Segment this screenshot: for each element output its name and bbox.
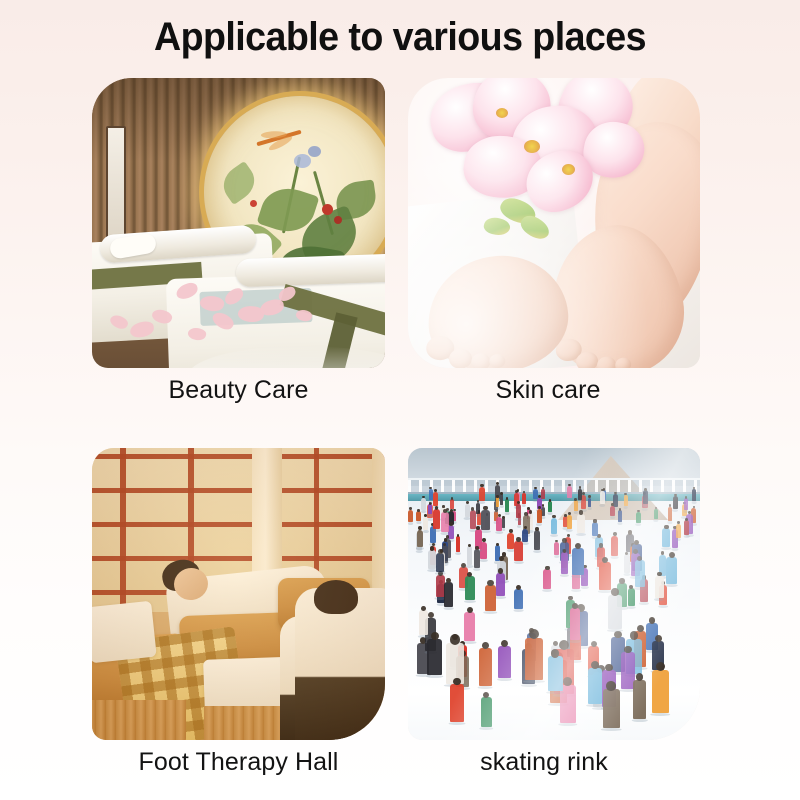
skater-head <box>438 549 443 554</box>
skater-head <box>606 681 615 690</box>
orchid-center <box>524 140 540 153</box>
skater-head <box>579 486 582 489</box>
orchid-center <box>562 164 575 175</box>
skater <box>666 557 677 584</box>
skater-head <box>444 538 447 541</box>
skater-head <box>480 484 484 488</box>
wall-post <box>120 448 126 612</box>
skater-head <box>628 530 632 534</box>
skater <box>522 529 527 542</box>
skater <box>603 689 620 728</box>
skater <box>577 514 585 533</box>
skater <box>474 549 480 568</box>
skater <box>408 510 413 522</box>
painting-blossom <box>294 154 311 168</box>
skater-head <box>529 510 532 513</box>
skater-head <box>500 492 503 495</box>
skater <box>600 491 605 504</box>
skater <box>554 542 559 556</box>
skater <box>668 507 672 522</box>
skater-head <box>482 538 486 542</box>
white-towel <box>92 601 157 664</box>
painting-leaf <box>216 161 261 205</box>
dragonfly-icon <box>256 130 301 147</box>
skater <box>534 530 540 550</box>
skater-head <box>575 543 581 549</box>
skater-head <box>567 534 570 537</box>
skater-head <box>559 640 570 651</box>
skater <box>599 562 611 589</box>
skater-head <box>471 507 474 510</box>
skater <box>543 569 551 589</box>
skater-head <box>468 544 471 547</box>
therapist-hair <box>314 580 358 614</box>
place-caption-skin-care: Skin care <box>402 376 694 405</box>
skater <box>450 499 454 509</box>
skater <box>624 554 630 573</box>
skater-head <box>593 519 596 522</box>
chair-skirt <box>92 700 186 740</box>
wall-rail <box>92 454 385 459</box>
skater <box>654 509 659 519</box>
skater <box>618 510 622 522</box>
painting-stem <box>313 171 334 235</box>
skater-head <box>611 503 614 506</box>
skater <box>436 553 445 572</box>
skater-head <box>601 489 604 492</box>
skater <box>635 560 645 587</box>
skater-head <box>693 506 696 509</box>
skater-head <box>466 501 469 504</box>
skater-head <box>496 543 499 546</box>
skater-head <box>483 692 489 698</box>
skater-head <box>449 522 452 525</box>
skater <box>673 496 678 509</box>
skater <box>684 520 689 535</box>
skater <box>467 546 473 564</box>
place-card-beauty-care[interactable]: Beauty Care <box>92 78 385 368</box>
skater-head <box>542 487 545 490</box>
skater-head <box>693 487 696 490</box>
skater-head <box>579 510 584 515</box>
skater-head <box>636 673 644 681</box>
skater-head <box>417 509 420 512</box>
skater-head <box>409 507 412 510</box>
skater <box>652 670 668 714</box>
skater <box>496 497 499 507</box>
skater <box>633 680 647 720</box>
skater-head <box>661 551 665 555</box>
skater-head <box>475 546 478 549</box>
skater-head <box>524 526 527 529</box>
skater-head <box>619 508 622 511</box>
skater-head <box>633 549 638 554</box>
painting-berry <box>334 216 342 224</box>
skater-head <box>624 493 627 496</box>
skater-head <box>634 540 640 546</box>
skater-head <box>453 678 461 686</box>
places-grid: Beauty Care <box>92 78 700 778</box>
skater <box>433 509 440 529</box>
wall-rail <box>92 522 385 527</box>
skater <box>481 697 492 728</box>
skater-head <box>429 487 432 490</box>
skater-head <box>534 487 537 490</box>
skater <box>436 575 445 598</box>
skater-head <box>482 642 489 649</box>
skater-head <box>688 511 692 515</box>
skater-head <box>637 625 644 632</box>
skater <box>567 515 573 529</box>
skater-head <box>450 509 453 512</box>
photo-foot-therapy-hall <box>92 448 385 740</box>
skater <box>428 504 432 514</box>
skater-head <box>630 631 639 640</box>
skater-head <box>542 504 545 507</box>
skater-head <box>467 607 473 613</box>
skater <box>496 573 506 597</box>
skater-head <box>451 497 454 500</box>
skater <box>525 638 543 680</box>
skater-head <box>624 646 632 654</box>
skater-head <box>545 566 550 571</box>
skater-head <box>443 509 447 513</box>
skater-head <box>483 506 488 511</box>
skater <box>676 524 681 539</box>
toe <box>489 354 506 368</box>
skater-head <box>487 580 493 586</box>
skater-head <box>656 662 665 671</box>
painting-blossom <box>308 146 321 157</box>
photo-skating-rink <box>408 448 700 740</box>
skater-head <box>421 606 426 611</box>
skater-head <box>476 526 480 530</box>
skater-head <box>611 588 618 595</box>
skater <box>450 684 464 722</box>
skater-head <box>614 492 617 495</box>
skater <box>470 510 476 529</box>
place-caption-beauty-care: Beauty Care <box>92 376 385 405</box>
skater <box>416 511 420 521</box>
skater-head <box>664 525 668 529</box>
skater <box>548 501 552 511</box>
bolster-pillow <box>236 253 385 287</box>
skater <box>498 646 511 678</box>
skater-head <box>450 634 460 644</box>
skater <box>662 528 670 547</box>
skater-head <box>501 640 508 647</box>
skater <box>636 512 641 523</box>
skater <box>570 608 580 640</box>
skater-head <box>549 499 552 502</box>
skater-head <box>538 506 541 509</box>
skater <box>548 656 563 691</box>
skater <box>684 498 688 510</box>
skater-head <box>499 556 504 561</box>
skater-head <box>422 496 425 499</box>
skater <box>433 492 438 506</box>
skater-head <box>461 563 466 568</box>
skater-head <box>568 512 571 515</box>
skater <box>456 536 461 551</box>
toe <box>471 353 491 368</box>
skater-head <box>446 578 451 583</box>
skater-head <box>582 492 585 495</box>
skater <box>429 489 433 500</box>
skater-head <box>538 495 541 498</box>
skater-head <box>418 526 422 530</box>
place-caption-foot-therapy-hall: Foot Therapy Hall <box>92 748 385 777</box>
orchid-center <box>496 108 508 118</box>
skater <box>592 522 598 536</box>
skater-head <box>637 510 640 513</box>
skater-head <box>655 635 662 642</box>
skater <box>624 495 628 506</box>
skater-head <box>516 585 521 590</box>
skater-head <box>502 516 505 519</box>
skater <box>421 498 426 511</box>
skater <box>608 595 621 629</box>
skater-head <box>529 629 539 639</box>
photo-skin-care <box>408 78 700 368</box>
skater-head <box>424 514 427 517</box>
skater-head <box>644 488 647 491</box>
skater-head <box>599 543 604 548</box>
skater-head <box>457 534 460 537</box>
skater <box>613 494 618 508</box>
skater-head <box>496 495 499 498</box>
skater <box>588 668 603 705</box>
skater <box>444 582 453 607</box>
skater <box>628 588 635 607</box>
skater-head <box>516 537 521 542</box>
skater-head <box>498 568 503 573</box>
skater <box>500 494 504 504</box>
skater <box>514 589 523 609</box>
skater-head <box>563 677 572 686</box>
skater <box>578 489 583 500</box>
skater <box>522 493 526 505</box>
skater-head <box>434 489 437 492</box>
skater <box>428 550 436 570</box>
skater <box>423 517 428 530</box>
toe <box>614 356 632 368</box>
painting-berry <box>322 204 333 215</box>
skater-head <box>568 596 573 601</box>
skater-head <box>551 649 559 657</box>
skater <box>561 552 568 574</box>
skater-head <box>588 495 591 498</box>
skater <box>479 487 485 502</box>
skater-head <box>467 572 473 578</box>
skater-head <box>535 527 539 531</box>
skater <box>567 486 572 498</box>
painting-stem <box>282 157 301 234</box>
place-card-skating-rink[interactable]: skating rink <box>408 448 700 740</box>
hall-pillar <box>372 448 385 612</box>
skater-head <box>674 494 677 497</box>
skater-head <box>625 552 628 555</box>
skater <box>441 512 449 532</box>
skater <box>479 648 491 687</box>
painting-berry <box>250 200 257 207</box>
skater-head <box>496 482 499 485</box>
skater <box>427 639 442 675</box>
skater-head <box>562 538 567 543</box>
skater-head <box>515 490 518 493</box>
skater-head <box>568 484 571 487</box>
toe <box>596 355 618 368</box>
skater <box>643 490 648 504</box>
place-caption-skating-rink: skating rink <box>398 748 690 777</box>
skater-head <box>677 521 680 524</box>
painting-leaf <box>256 181 319 239</box>
skater-head <box>442 505 445 508</box>
wall-rail <box>92 556 385 561</box>
toe <box>448 348 472 368</box>
spa-window <box>106 126 126 246</box>
skater-head <box>619 578 624 583</box>
skater-head <box>509 529 513 533</box>
skater <box>485 585 496 611</box>
skater <box>514 541 523 561</box>
skater <box>655 576 663 599</box>
skater <box>496 517 502 531</box>
skater-head <box>657 572 662 577</box>
skater-head <box>669 552 675 558</box>
skater-head <box>685 496 688 499</box>
rink-fence <box>408 478 700 494</box>
skater-head <box>613 532 617 536</box>
skater-head <box>655 507 658 510</box>
place-card-foot-therapy-hall[interactable]: Foot Therapy Hall <box>92 448 385 740</box>
skater <box>537 509 542 523</box>
skater-head <box>431 632 439 640</box>
photo-beauty-care <box>92 78 385 368</box>
skater <box>692 489 696 501</box>
skater <box>572 548 583 575</box>
skater <box>502 518 505 527</box>
skater-head <box>552 515 556 519</box>
skater-head <box>563 549 567 553</box>
skater-head <box>669 504 672 507</box>
skater <box>541 489 545 499</box>
skater <box>419 610 428 635</box>
skater-head <box>517 501 520 504</box>
skater-head <box>637 556 643 562</box>
skater-head <box>523 491 526 494</box>
skater <box>464 612 475 641</box>
skater-head <box>430 546 435 551</box>
skater <box>551 518 558 534</box>
skater <box>505 499 509 511</box>
skater <box>481 510 489 531</box>
skater <box>417 530 424 547</box>
skater <box>507 533 514 550</box>
skater <box>588 498 592 507</box>
painting-leaf <box>334 179 379 220</box>
skater-head <box>435 506 439 510</box>
skater-head <box>605 664 612 671</box>
skater-head <box>591 661 599 669</box>
skater <box>610 506 615 516</box>
skater-head <box>555 540 558 543</box>
skater <box>516 504 521 519</box>
skater-head <box>685 518 688 521</box>
skater-head <box>602 557 609 564</box>
skater-head <box>428 612 434 618</box>
page-title: Applicable to various places <box>24 14 776 60</box>
skater-head <box>553 641 558 646</box>
place-card-skin-care[interactable]: Skin care <box>408 78 700 368</box>
skater <box>465 576 475 600</box>
skater-head <box>649 617 656 624</box>
skater <box>611 536 618 556</box>
skater-head <box>498 514 501 517</box>
wall-rail <box>92 488 385 493</box>
skater-head <box>591 641 597 647</box>
skater-head <box>572 603 578 609</box>
